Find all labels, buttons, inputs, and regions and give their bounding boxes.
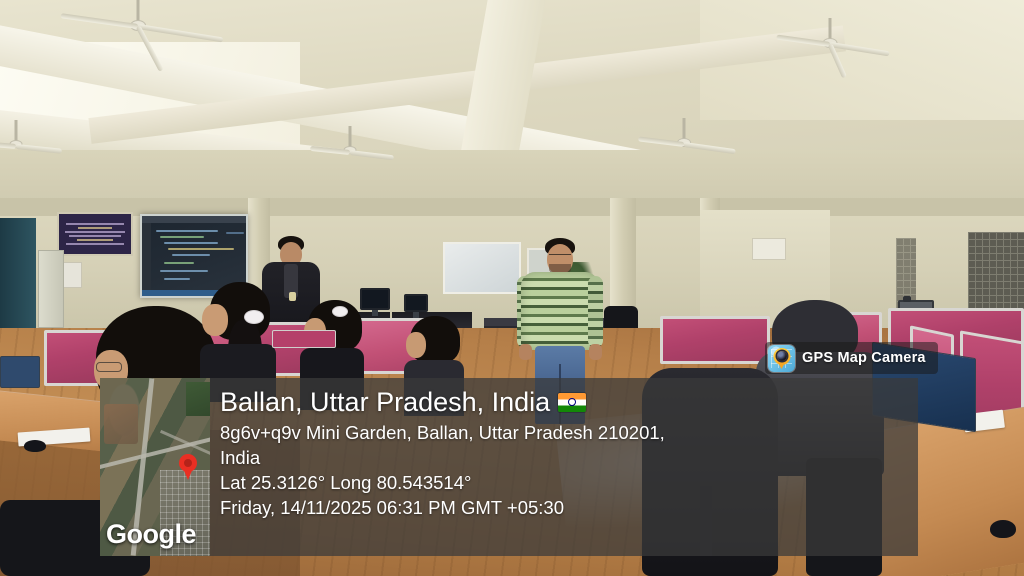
editor-code-line (160, 236, 204, 238)
monitor-right-2 (903, 296, 911, 302)
editor-code-line (164, 262, 194, 264)
door-panel-left (38, 250, 64, 328)
map-road-minor (160, 430, 210, 457)
plaque-line (77, 239, 113, 241)
location-text-block: Ballan, Uttar Pradesh, India 8g6v+q9v Mi… (210, 378, 918, 556)
person-hand-left (519, 344, 532, 360)
india-flag-icon (558, 393, 586, 412)
gps-map-camera-photo: GPS Map Camera Google Ballan, Uttar Prad… (0, 0, 1024, 576)
map-thumbnail[interactable]: Google (100, 378, 210, 556)
editor-code-line (164, 278, 190, 280)
location-info-overlay: Google Ballan, Uttar Pradesh, India 8g6v… (100, 378, 918, 556)
person-glasses-icon (549, 254, 571, 259)
student-face (406, 332, 426, 358)
plaque-line (65, 231, 125, 233)
timestamp-line: Friday, 14/11/2025 06:31 PM GMT +05:30 (220, 495, 906, 520)
student-hair-tie (244, 310, 264, 324)
map-marker-dot (184, 459, 192, 467)
plaque-line (69, 235, 121, 237)
editor-code-line (160, 270, 208, 272)
coordinates-line: Lat 25.3126° Long 80.543514° (220, 470, 906, 495)
editor-code-line (164, 242, 218, 244)
student-hair-tie (332, 306, 348, 317)
address-line-2: India (220, 445, 906, 470)
fan-rod (15, 120, 18, 142)
map-vegetation-patch (186, 382, 210, 416)
doorway-left (0, 218, 36, 328)
computer-mouse-2 (24, 440, 46, 452)
plaque-line (66, 243, 124, 245)
plaque-line (78, 227, 112, 229)
map-land-parcel (104, 404, 138, 444)
gps-map-camera-watermark: GPS Map Camera (765, 342, 938, 374)
monitor-screen (406, 296, 426, 310)
camera-lens-icon (777, 351, 787, 361)
student-face (202, 304, 228, 336)
wall-whiteboard (443, 242, 521, 294)
map-marker-pin (179, 454, 197, 472)
editor-toolbar (142, 216, 246, 223)
fan-rod (349, 126, 352, 148)
google-watermark: Google (106, 519, 196, 550)
editor-code-line (172, 254, 210, 256)
wall-notice-right (752, 238, 786, 260)
cubicle-panel-r1 (660, 316, 770, 364)
monitor-mid-2 (404, 294, 428, 312)
gps-camera-app-icon (768, 345, 795, 372)
fan-rod (829, 18, 832, 40)
location-title: Ballan, Uttar Pradesh, India (220, 384, 550, 420)
editor-sidebar (142, 223, 151, 298)
fan-rod (137, 0, 140, 22)
person-arm-right (588, 276, 603, 348)
computer-mouse (990, 520, 1016, 538)
editor-code-line (156, 230, 218, 232)
editor-code-line (226, 232, 244, 234)
laptop-mid (272, 330, 336, 348)
person-hand-right (589, 344, 602, 360)
location-title-row: Ballan, Uttar Pradesh, India (220, 384, 906, 420)
wall-plaque (57, 212, 133, 256)
address-line-1: 8g6v+q9v Mini Garden, Ballan, Uttar Prad… (220, 420, 906, 445)
fan-rod (683, 118, 686, 140)
editor-code-line (168, 248, 234, 250)
laptop-left (0, 356, 40, 388)
wall-poster-left (62, 262, 82, 288)
plaque-line (66, 223, 124, 225)
watermark-label: GPS Map Camera (802, 350, 926, 366)
student-glasses-icon (96, 362, 122, 372)
